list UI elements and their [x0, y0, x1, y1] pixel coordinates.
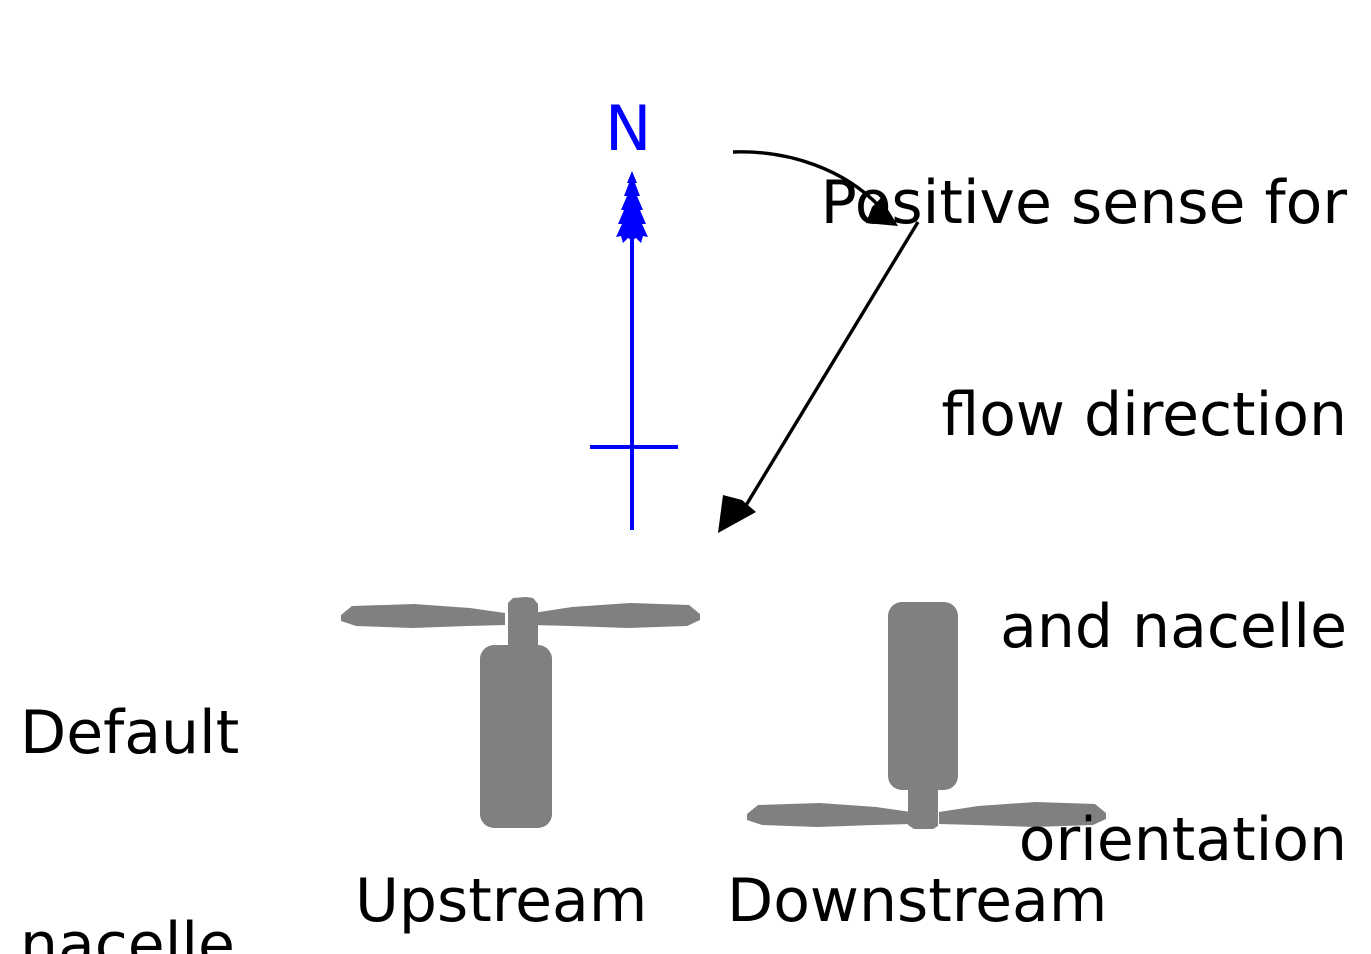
annotation-line: flow direction	[727, 380, 1347, 451]
upstream-blade-right	[533, 603, 700, 628]
annotation-line: Default	[20, 698, 420, 769]
label-downstream: Downstream	[727, 866, 1107, 937]
north-compass	[590, 171, 678, 530]
annotation-line: and nacelle	[727, 592, 1347, 663]
annotation-line: orientation	[727, 805, 1347, 876]
annotation-line: Positive sense for	[727, 168, 1347, 239]
compass-arrowhead-icon	[616, 171, 648, 243]
upstream-nacelle-body	[480, 645, 552, 828]
upstream-hub	[508, 597, 538, 652]
label-upstream: Upstream	[355, 866, 647, 937]
diagram-canvas: N Positive sense for flow direction and …	[0, 0, 1371, 954]
annotation-positive-sense: Positive sense for flow direction and na…	[727, 26, 1347, 954]
north-label: N	[605, 92, 651, 165]
